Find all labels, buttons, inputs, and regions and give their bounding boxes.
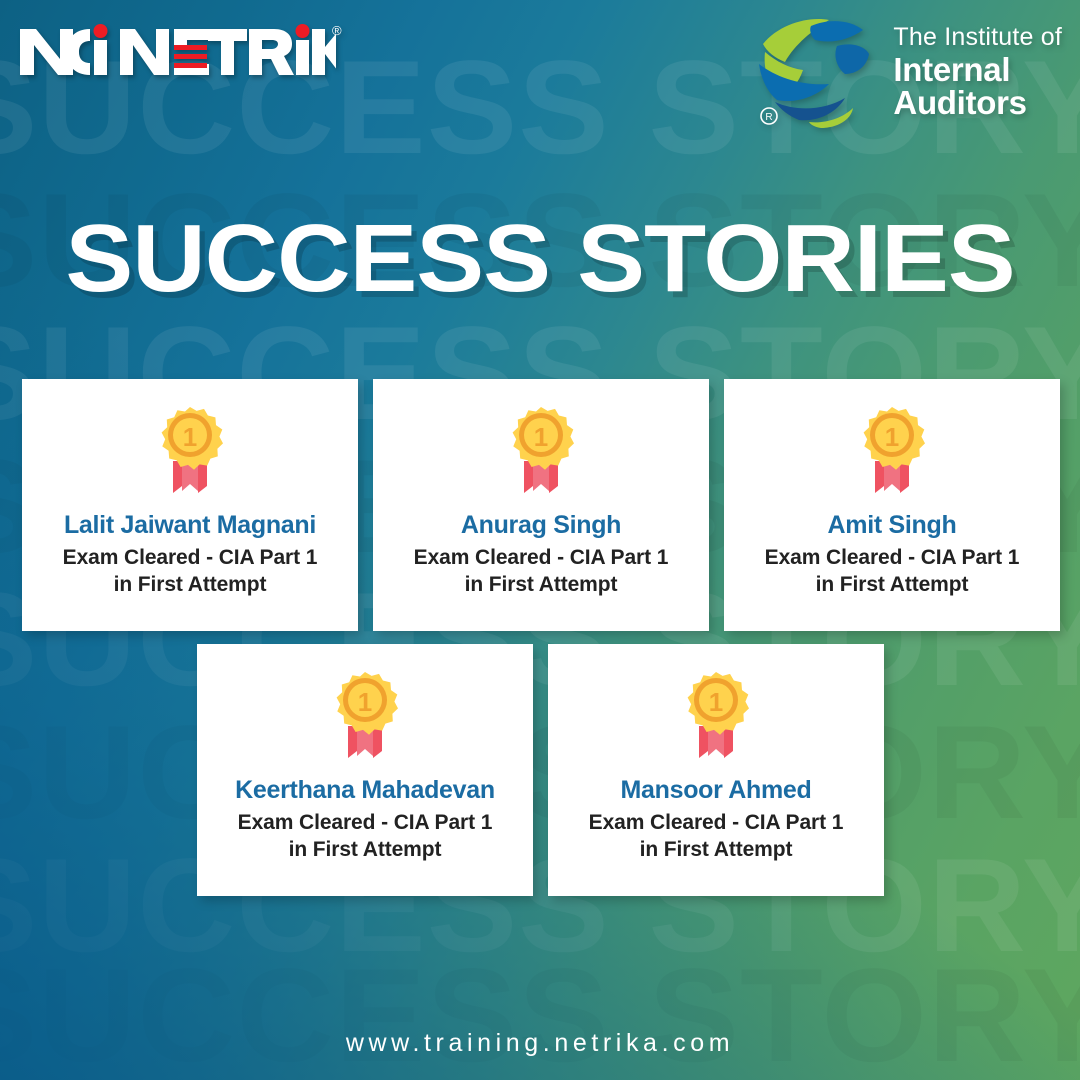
student-achievement: Exam Cleared - CIA Part 1 in First Attem… <box>765 544 1020 599</box>
website-url[interactable]: www.training.netrika.com <box>0 1029 1080 1058</box>
gold-medal-icon: 1 <box>668 666 764 766</box>
gold-medal-icon: 1 <box>844 401 940 501</box>
student-achievement: Exam Cleared - CIA Part 1 in First Attem… <box>414 544 669 599</box>
student-name: Amit Singh <box>828 511 957 540</box>
achievement-line-2: in First Attempt <box>816 573 969 596</box>
svg-text:1: 1 <box>709 687 723 717</box>
achievement-line-1: Exam Cleared - CIA Part 1 <box>765 546 1020 569</box>
svg-text:1: 1 <box>534 422 548 452</box>
achievement-line-2: in First Attempt <box>114 573 267 596</box>
student-name: Lalit Jaiwant Magnani <box>64 511 316 540</box>
success-card: 1 Mansoor Ahmed Exam Cleared - CIA Part … <box>548 644 884 896</box>
student-name: Anurag Singh <box>461 511 621 540</box>
achievement-line-2: in First Attempt <box>640 838 793 861</box>
student-achievement: Exam Cleared - CIA Part 1 in First Attem… <box>63 544 318 599</box>
student-achievement: Exam Cleared - CIA Part 1 in First Attem… <box>238 809 493 864</box>
gold-medal-icon: 1 <box>493 401 589 501</box>
success-cards-grid: 1 Lalit Jaiwant Magnani Exam Cleared - C… <box>0 0 1080 1080</box>
success-card: 1 Anurag Singh Exam Cleared - CIA Part 1… <box>373 379 709 631</box>
achievement-line-1: Exam Cleared - CIA Part 1 <box>589 811 844 834</box>
achievement-line-1: Exam Cleared - CIA Part 1 <box>414 546 669 569</box>
student-achievement: Exam Cleared - CIA Part 1 in First Attem… <box>589 809 844 864</box>
success-card: 1 Lalit Jaiwant Magnani Exam Cleared - C… <box>22 379 358 631</box>
achievement-line-2: in First Attempt <box>465 573 618 596</box>
svg-text:1: 1 <box>885 422 899 452</box>
success-stories-poster: SUCCESS STORY SUCCESS STORY SUCCESS STOR… <box>0 0 1080 1080</box>
achievement-line-1: Exam Cleared - CIA Part 1 <box>238 811 493 834</box>
gold-medal-icon: 1 <box>317 666 413 766</box>
student-name: Mansoor Ahmed <box>620 776 811 805</box>
success-card: 1 Amit Singh Exam Cleared - CIA Part 1 i… <box>724 379 1060 631</box>
svg-text:1: 1 <box>358 687 372 717</box>
success-card: 1 Keerthana Mahadevan Exam Cleared - CIA… <box>197 644 533 896</box>
gold-medal-icon: 1 <box>142 401 238 501</box>
achievement-line-1: Exam Cleared - CIA Part 1 <box>63 546 318 569</box>
achievement-line-2: in First Attempt <box>289 838 442 861</box>
student-name: Keerthana Mahadevan <box>235 776 495 805</box>
svg-text:1: 1 <box>183 422 197 452</box>
